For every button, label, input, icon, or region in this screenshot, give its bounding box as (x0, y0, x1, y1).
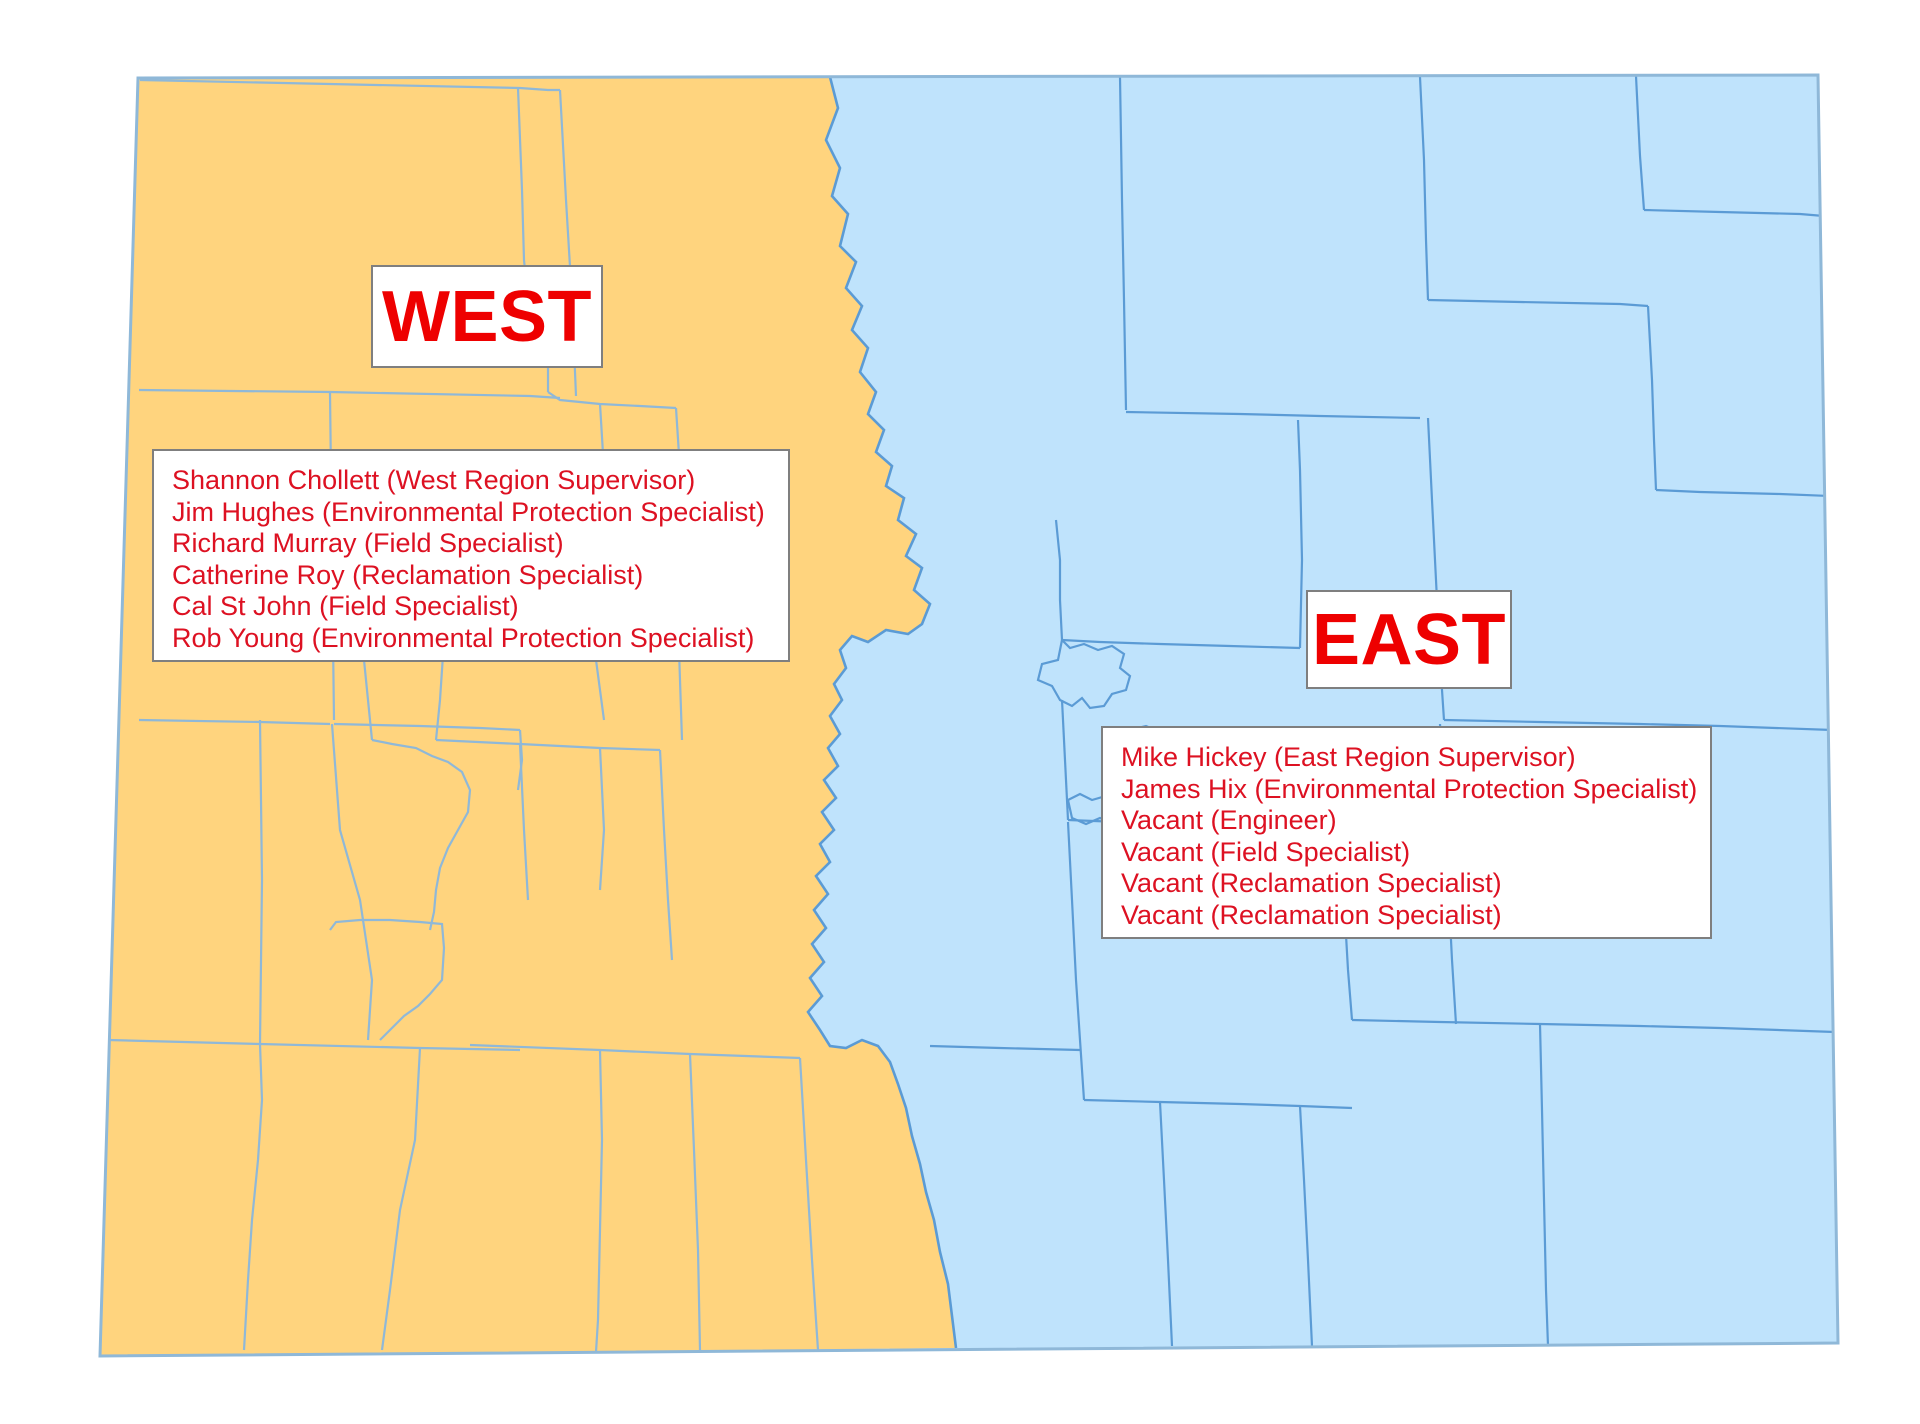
roster-line: Vacant (Reclamation Specialist) (1121, 900, 1694, 932)
colorado-region-map (0, 0, 1920, 1424)
roster-line: Vacant (Field Specialist) (1121, 837, 1694, 869)
roster-line: Shannon Chollett (West Region Supervisor… (172, 465, 772, 497)
west-region-label: WEST (382, 281, 592, 353)
roster-line: Jim Hughes (Environmental Protection Spe… (172, 497, 772, 529)
roster-line: Catherine Roy (Reclamation Specialist) (172, 560, 772, 592)
roster-line: Mike Hickey (East Region Supervisor) (1121, 742, 1694, 774)
roster-line: James Hix (Environmental Protection Spec… (1121, 774, 1694, 806)
east-region-roster-box: Mike Hickey (East Region Supervisor) Jam… (1101, 726, 1712, 939)
roster-line: Vacant (Reclamation Specialist) (1121, 868, 1694, 900)
west-region-label-box: WEST (371, 265, 603, 368)
roster-line: Rob Young (Environmental Protection Spec… (172, 623, 772, 655)
map-page: WEST EAST Shannon Chollett (West Region … (0, 0, 1920, 1424)
west-region-roster-box: Shannon Chollett (West Region Supervisor… (152, 449, 790, 662)
roster-line: Richard Murray (Field Specialist) (172, 528, 772, 560)
east-region-label-box: EAST (1306, 590, 1512, 689)
east-region-label: EAST (1312, 604, 1506, 676)
roster-line: Cal St John (Field Specialist) (172, 591, 772, 623)
roster-line: Vacant (Engineer) (1121, 805, 1694, 837)
